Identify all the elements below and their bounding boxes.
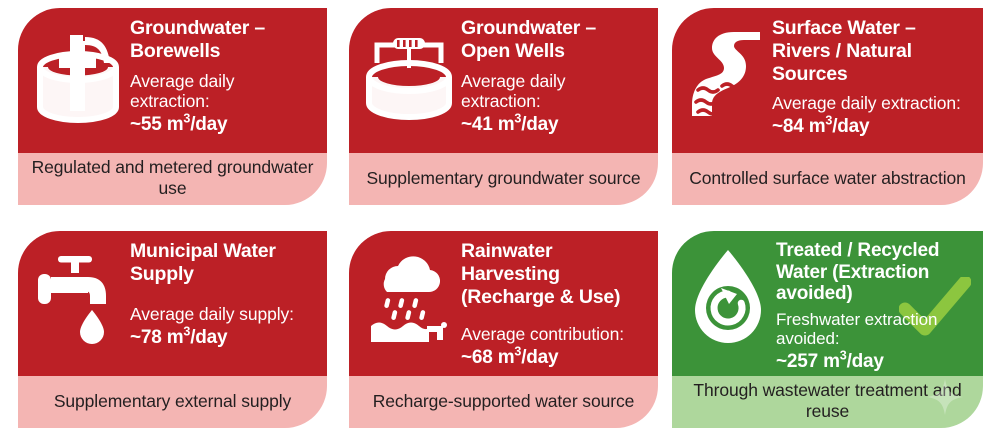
- card-footer: Controlled surface water abstraction: [672, 153, 983, 205]
- card-treated-recycled-water[interactable]: Treated / Recycled Water (Extraction avo…: [672, 231, 983, 428]
- metric-label: Average daily extraction:: [130, 72, 317, 112]
- metric-label: Average daily supply:: [130, 305, 317, 325]
- card-footer: Supplementary external supply: [18, 376, 327, 428]
- card-text: Rainwater Harvesting (Recharge & Use) Av…: [461, 240, 648, 370]
- card-footer: Supplementary groundwater source: [349, 153, 658, 205]
- metric-value: ~41 m3/day: [461, 114, 648, 137]
- rain-cloud-tank-icon: [357, 240, 461, 352]
- metric-label: Freshwater extraction avoided:: [776, 310, 973, 349]
- tap-faucet-drop-icon: [26, 240, 130, 352]
- card-groundwater-open-wells[interactable]: Groundwater – Open Wells Average daily e…: [349, 8, 658, 205]
- card-rainwater-harvesting[interactable]: Rainwater Harvesting (Recharge & Use) Av…: [349, 231, 658, 428]
- card-body: Surface Water – Rivers / Natural Sources…: [672, 8, 983, 153]
- metric-label: Average daily extraction:: [461, 72, 648, 112]
- card-text: Municipal Water Supply Average daily sup…: [130, 240, 317, 349]
- card-title: Municipal Water Supply: [130, 240, 317, 286]
- water-sources-infographic: Groundwater – Borewells Average daily ex…: [0, 0, 1000, 441]
- card-surface-water-rivers[interactable]: Surface Water – Rivers / Natural Sources…: [672, 8, 983, 205]
- metric-label: Average contribution:: [461, 325, 648, 345]
- river-icon: [680, 17, 772, 129]
- card-body: Rainwater Harvesting (Recharge & Use) Av…: [349, 231, 658, 376]
- card-footer: Recharge-supported water source: [349, 376, 658, 428]
- card-municipal-water-supply[interactable]: Municipal Water Supply Average daily sup…: [18, 231, 327, 428]
- metric-value: ~55 m3/day: [130, 114, 317, 137]
- metric-value: ~68 m3/day: [461, 347, 648, 370]
- card-body: Municipal Water Supply Average daily sup…: [18, 231, 327, 376]
- open-well-icon: [357, 17, 461, 129]
- card-text: Surface Water – Rivers / Natural Sources…: [772, 17, 973, 139]
- recycled-water-droplet-icon: [680, 240, 776, 352]
- card-title: Rainwater Harvesting (Recharge & Use): [461, 240, 648, 308]
- card-title: Surface Water – Rivers / Natural Sources: [772, 17, 973, 85]
- card-body: Groundwater – Open Wells Average daily e…: [349, 8, 658, 153]
- card-groundwater-borewells[interactable]: Groundwater – Borewells Average daily ex…: [18, 8, 327, 205]
- card-text: Groundwater – Borewells Average daily ex…: [130, 17, 317, 136]
- card-text: Treated / Recycled Water (Extraction avo…: [776, 240, 973, 374]
- card-title: Treated / Recycled Water (Extraction avo…: [776, 240, 973, 305]
- metric-value: ~84 m3/day: [772, 116, 973, 139]
- card-footer: Through wastewater treatment and reuse: [672, 376, 983, 428]
- card-text: Groundwater – Open Wells Average daily e…: [461, 17, 648, 136]
- metric-value: ~78 m3/day: [130, 327, 317, 350]
- metric-value: ~257 m3/day: [776, 351, 973, 374]
- hand-pump-well-icon: [26, 17, 130, 129]
- card-title: Groundwater – Open Wells: [461, 17, 648, 63]
- card-body: Treated / Recycled Water (Extraction avo…: [672, 231, 983, 376]
- metric-label: Average daily extraction:: [772, 94, 973, 114]
- card-footer: Regulated and metered groundwater use: [18, 153, 327, 205]
- card-title: Groundwater – Borewells: [130, 17, 317, 63]
- card-body: Groundwater – Borewells Average daily ex…: [18, 8, 327, 153]
